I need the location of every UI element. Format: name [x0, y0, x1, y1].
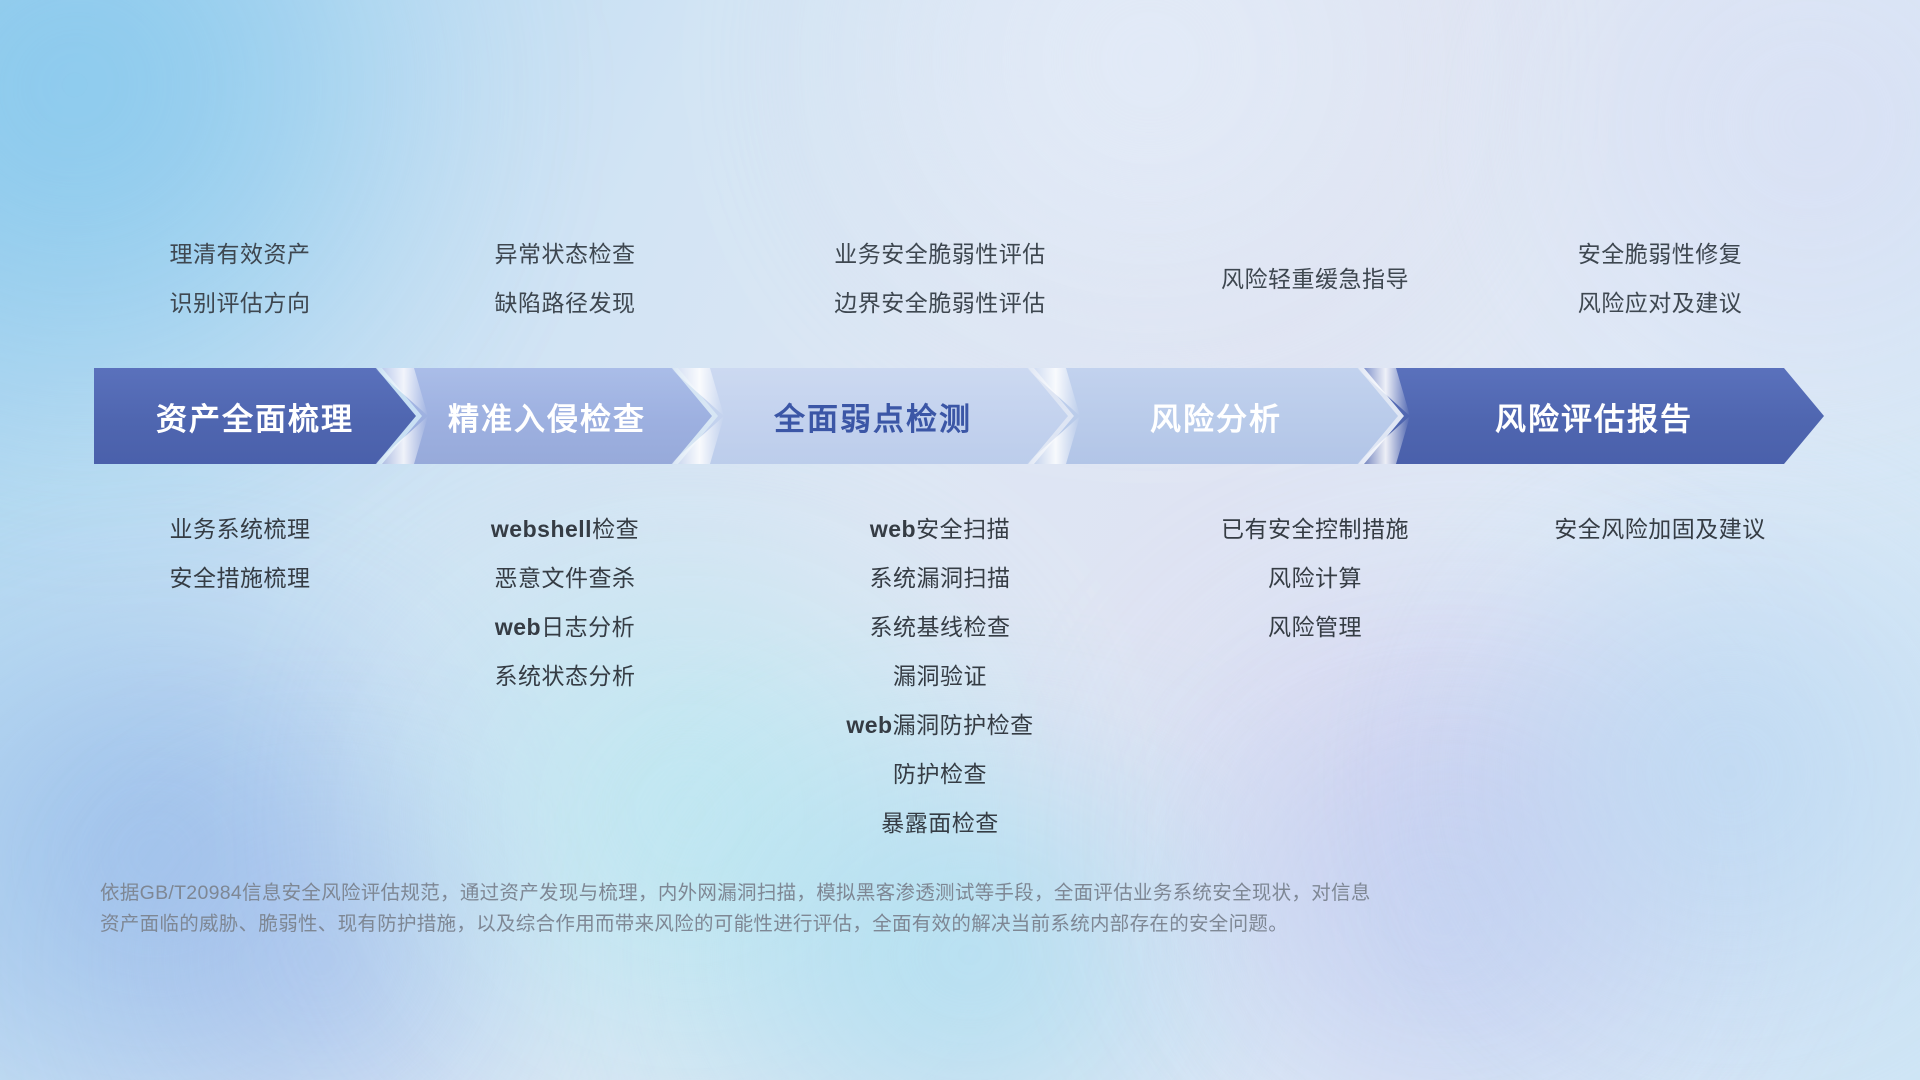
stage-chevron-risk-analysis[interactable]: 风险分析 [1034, 368, 1398, 464]
top-item: 异常状态检查 [420, 230, 710, 279]
bottom-item: 安全措施梳理 [95, 554, 385, 603]
footer-line-1: 依据GB/T20984信息安全风险评估规范，通过资产发现与梳理，内外网漏洞扫描，… [100, 878, 1660, 909]
stage-chevron-asset-inventory[interactable]: 资产全面梳理 [94, 368, 416, 464]
bottom-item: web漏洞防护检查 [790, 701, 1090, 750]
bottom-item: 风险管理 [1165, 603, 1465, 652]
bottom-item: 恶意文件查杀 [420, 554, 710, 603]
diagram-canvas: 理清有效资产 识别评估方向 异常状态检查 缺陷路径发现 业务安全脆弱性评估 边界… [0, 0, 1920, 1080]
footer-line-2: 资产面临的威胁、脆弱性、现有防护措施，以及综合作用而带来风险的可能性进行评估，全… [100, 909, 1660, 940]
bottom-item: 系统漏洞扫描 [790, 554, 1090, 603]
top-items-assessment-report: 安全脆弱性修复 风险应对及建议 [1510, 230, 1810, 328]
bottom-item-prefix: webshell [491, 516, 592, 542]
top-items-risk-analysis: 风险轻重缓急指导 [1165, 255, 1465, 304]
top-item: 风险应对及建议 [1510, 279, 1810, 328]
bottom-items-weakness-detection: web安全扫描 系统漏洞扫描 系统基线检查 漏洞验证 web漏洞防护检查 防护检… [790, 505, 1090, 848]
top-items-asset-inventory: 理清有效资产 识别评估方向 [95, 230, 385, 328]
top-item: 理清有效资产 [95, 230, 385, 279]
stage-label: 精准入侵检查 [448, 394, 646, 439]
bottom-item: web日志分析 [420, 603, 710, 652]
top-item: 风险轻重缓急指导 [1165, 255, 1465, 304]
top-item: 安全脆弱性修复 [1510, 230, 1810, 279]
top-item: 业务安全脆弱性评估 [790, 230, 1090, 279]
top-items-intrusion-check: 异常状态检查 缺陷路径发现 [420, 230, 710, 328]
bottom-item: webshell检查 [420, 505, 710, 554]
bottom-item: 风险计算 [1165, 554, 1465, 603]
top-item: 识别评估方向 [95, 279, 385, 328]
bottom-item: 系统状态分析 [420, 652, 710, 701]
stage-chevron-assessment-report[interactable]: 风险评估报告 [1364, 368, 1824, 464]
bottom-item-prefix: web [870, 516, 916, 542]
bottom-item: 已有安全控制措施 [1165, 505, 1465, 554]
stage-chevron-weakness-detection[interactable]: 全面弱点检测 [678, 368, 1068, 464]
stage-label: 风险评估报告 [1495, 394, 1693, 439]
bottom-items-assessment-report: 安全风险加固及建议 [1510, 505, 1810, 554]
bottom-item: web安全扫描 [790, 505, 1090, 554]
footer-note: 依据GB/T20984信息安全风险评估规范，通过资产发现与梳理，内外网漏洞扫描，… [100, 878, 1660, 940]
bottom-item: 业务系统梳理 [95, 505, 385, 554]
bottom-item: 安全风险加固及建议 [1510, 505, 1810, 554]
bottom-item-prefix: web [495, 614, 541, 640]
top-item: 缺陷路径发现 [420, 279, 710, 328]
bottom-item: 漏洞验证 [790, 652, 1090, 701]
stage-chevron-intrusion-check[interactable]: 精准入侵检查 [382, 368, 712, 464]
bottom-item: 系统基线检查 [790, 603, 1090, 652]
bottom-item: 暴露面检查 [790, 799, 1090, 848]
top-item: 边界安全脆弱性评估 [790, 279, 1090, 328]
stage-label: 资产全面梳理 [156, 394, 354, 439]
stage-label: 风险分析 [1150, 394, 1282, 439]
bottom-items-asset-inventory: 业务系统梳理 安全措施梳理 [95, 505, 385, 603]
bottom-items-risk-analysis: 已有安全控制措施 风险计算 风险管理 [1165, 505, 1465, 652]
bottom-item: 防护检查 [790, 750, 1090, 799]
bottom-item-prefix: web [846, 712, 892, 738]
stage-label: 全面弱点检测 [774, 394, 972, 439]
top-items-weakness-detection: 业务安全脆弱性评估 边界安全脆弱性评估 [790, 230, 1090, 328]
process-chevron-band: 资产全面梳理 精准入侵检查 全面弱点检测 风险分析 风险评估报告 [0, 368, 1920, 464]
bottom-items-intrusion-check: webshell检查 恶意文件查杀 web日志分析 系统状态分析 [420, 505, 710, 701]
